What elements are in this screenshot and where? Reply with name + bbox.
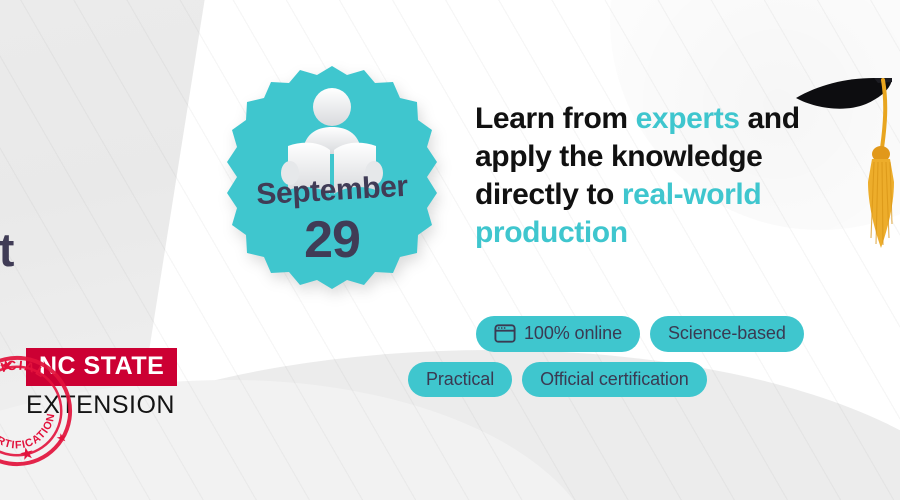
date-badge: September 29 xyxy=(218,62,446,294)
pill-label: 100% online xyxy=(524,322,622,345)
pill-100-percent-online: 100% online xyxy=(476,316,640,352)
copy-segment-1: Learn from xyxy=(475,102,636,135)
pill-label: Science-based xyxy=(668,322,786,345)
pill-official-certification: Official certification xyxy=(522,362,707,398)
feature-pill-row-1: 100% online Science-based xyxy=(408,316,868,352)
copy-segment-2-highlight: experts xyxy=(636,102,740,135)
feature-pill-group: 100% online Science-based Practical Offi… xyxy=(408,316,868,407)
page-title-line-2: ement xyxy=(0,223,238,278)
promo-banner: ry ement NC STATE EXTENSION OFFICIAL CER… xyxy=(0,0,900,500)
pill-practical: Practical xyxy=(408,362,512,398)
page-title-line-1: ry xyxy=(0,168,238,223)
browser-window-icon xyxy=(494,324,516,343)
pill-science-based: Science-based xyxy=(650,316,804,352)
feature-pill-row-2: Practical Official certification xyxy=(408,362,868,398)
pill-label: Official certification xyxy=(540,368,689,391)
graduation-cap-icon xyxy=(788,52,900,302)
page-title: ry ement xyxy=(0,168,238,277)
pill-label: Practical xyxy=(426,368,494,391)
badge-day-label: 29 xyxy=(218,210,446,270)
